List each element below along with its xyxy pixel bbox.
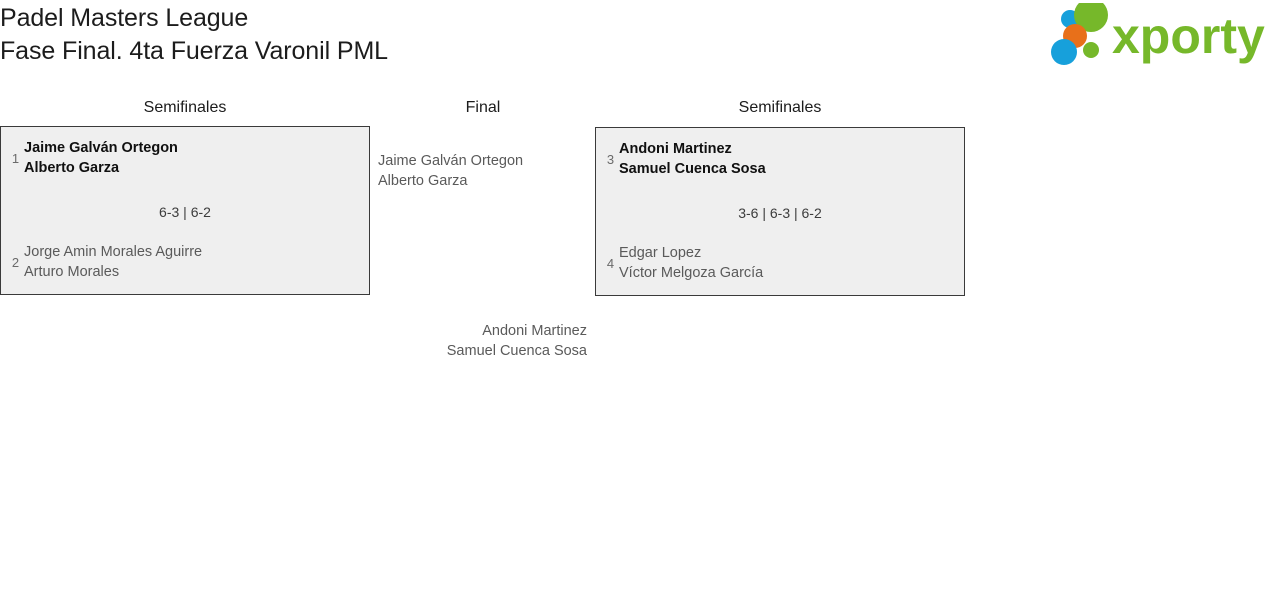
match-team-row[interactable]: 3 Andoni Martinez Samuel Cuenca Sosa (602, 140, 766, 179)
player-name: Arturo Morales (24, 263, 202, 283)
player-name: Jorge Amin Morales Aguirre (24, 243, 202, 263)
match-score: 6-3 | 6-2 (1, 203, 369, 221)
player-name: Víctor Melgoza García (619, 264, 763, 284)
player-name: Andoni Martinez (619, 140, 766, 160)
match-card-semifinal-left[interactable]: 1 Jaime Galván Ortegon Alberto Garza 6-3… (0, 126, 370, 295)
team-players: Andoni Martinez Samuel Cuenca Sosa (619, 140, 766, 179)
player-name: Alberto Garza (24, 159, 178, 179)
round-header-semifinales-left: Semifinales (85, 98, 285, 118)
player-name: Jaime Galván Ortegon (24, 139, 178, 159)
player-name: Alberto Garza (378, 172, 523, 192)
tournament-bracket: Semifinales Final Semifinales 1 Jaime Ga… (0, 0, 1280, 613)
match-team-row[interactable]: 4 Edgar Lopez Víctor Melgoza García (602, 244, 763, 283)
round-header-final: Final (383, 98, 583, 118)
team-seed: 1 (7, 151, 24, 166)
final-team-bottom[interactable]: Andoni Martinez Samuel Cuenca Sosa (330, 322, 587, 361)
final-team-top[interactable]: Jaime Galván Ortegon Alberto Garza (378, 152, 523, 191)
round-header-semifinales-right: Semifinales (680, 98, 880, 118)
player-name: Andoni Martinez (330, 322, 587, 342)
match-card-semifinal-right[interactable]: 3 Andoni Martinez Samuel Cuenca Sosa 3-6… (595, 127, 965, 296)
player-name: Edgar Lopez (619, 244, 763, 264)
match-score: 3-6 | 6-3 | 6-2 (596, 204, 964, 222)
team-seed: 3 (602, 152, 619, 167)
team-players: Jorge Amin Morales Aguirre Arturo Morale… (24, 243, 202, 282)
player-name: Jaime Galván Ortegon (378, 152, 523, 172)
match-team-row[interactable]: 1 Jaime Galván Ortegon Alberto Garza (7, 139, 178, 178)
team-seed: 4 (602, 256, 619, 271)
team-players: Edgar Lopez Víctor Melgoza García (619, 244, 763, 283)
player-name: Samuel Cuenca Sosa (330, 342, 587, 362)
team-seed: 2 (7, 255, 24, 270)
player-name: Samuel Cuenca Sosa (619, 160, 766, 180)
team-players: Jaime Galván Ortegon Alberto Garza (24, 139, 178, 178)
match-team-row[interactable]: 2 Jorge Amin Morales Aguirre Arturo Mora… (7, 243, 202, 282)
